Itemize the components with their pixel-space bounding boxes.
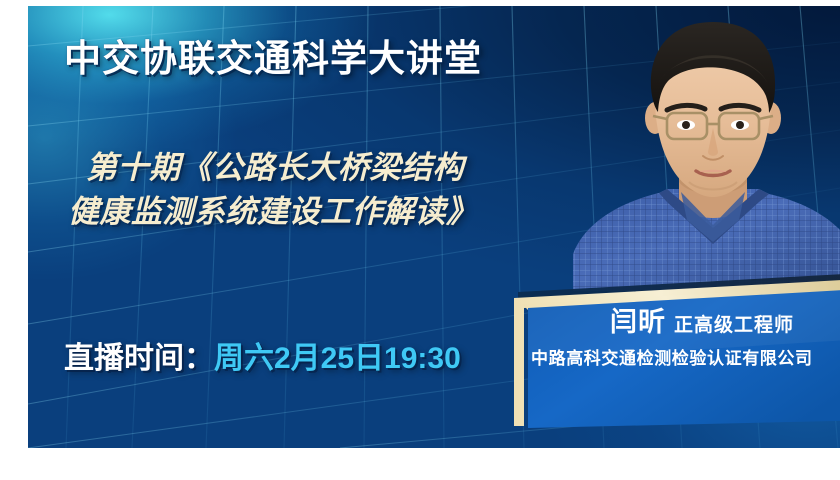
speaker-organization: 中路高科交通检测检验认证有限公司 (531, 344, 813, 369)
poster-subtitle-line2: 健康监测系统建设工作解读》 (68, 190, 578, 234)
speaker-portrait (563, 6, 840, 291)
speaker-name-card: 闫昕 正高级工程师 中路高科交通检测检验认证有限公司 (514, 268, 840, 436)
live-time-value: 周六2月25日19:30 (214, 342, 461, 375)
speaker-portrait-illustration (563, 6, 840, 291)
speaker-identity-row: 闫昕 正高级工程师 (610, 300, 794, 339)
poster-subtitle-line1: 第十期《公路长大桥梁结构 (68, 146, 578, 190)
live-time-label: 直播时间： (64, 342, 214, 375)
speaker-name: 闫昕 (610, 300, 666, 339)
page-title: 中交协联交通科学大讲堂 (64, 28, 482, 82)
poster-subtitle: 第十期《公路长大桥梁结构 健康监测系统建设工作解读》 (68, 146, 578, 234)
speaker-job-title: 正高级工程师 (674, 310, 794, 337)
screenshot-stage: 中交协联交通科学大讲堂 第十期《公路长大桥梁结构 健康监测系统建设工作解读》 直… (0, 0, 840, 480)
speaker-card-text: 闫昕 正高级工程师 中路高科交通检测检验认证有限公司 (514, 268, 840, 436)
webinar-poster: 中交协联交通科学大讲堂 第十期《公路长大桥梁结构 健康监测系统建设工作解读》 直… (28, 6, 840, 448)
live-time-row: 直播时间：周六2月25日19:30 (64, 333, 461, 377)
